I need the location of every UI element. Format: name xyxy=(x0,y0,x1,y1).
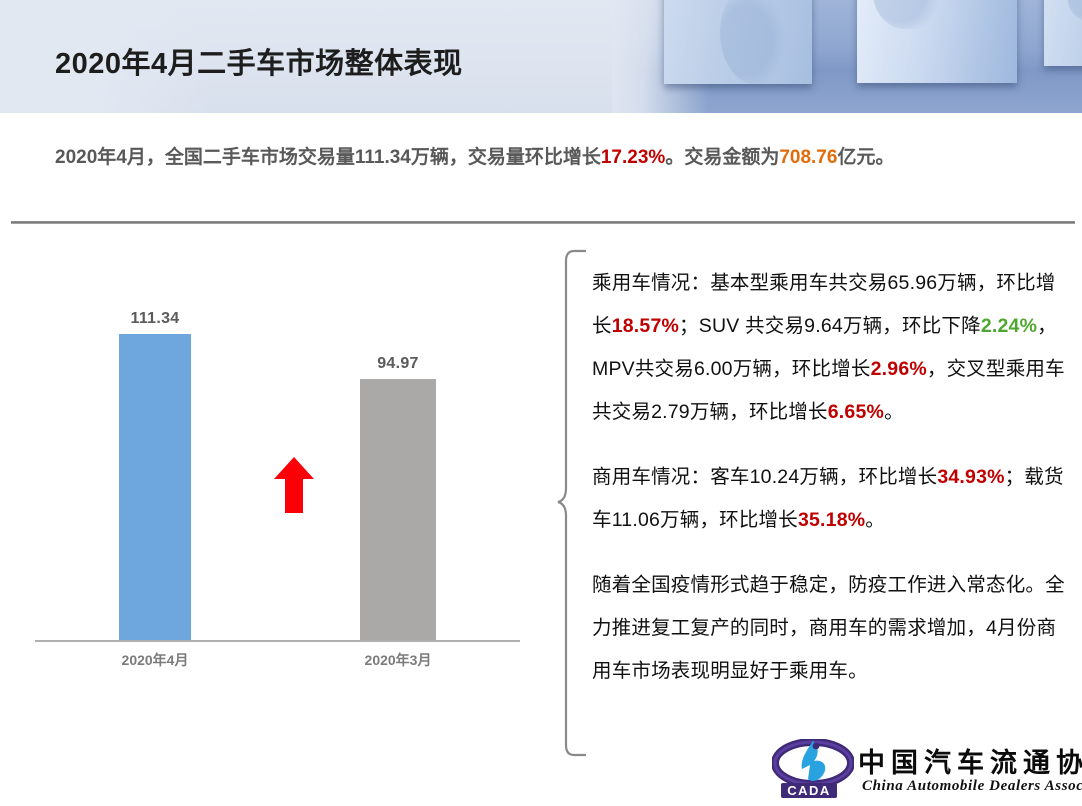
chart-axis-line xyxy=(35,640,520,642)
bar-rect xyxy=(360,379,436,640)
slide-root: 2020年4月二手车市场整体表现 2020年4月，全国二手车市场交易量111.3… xyxy=(0,0,1082,806)
highlight-red: 34.93% xyxy=(937,466,1004,488)
cada-logo-icon: CADA xyxy=(772,739,854,799)
text-run: 商用车情况：客车10.24万辆，环比增长 xyxy=(592,466,937,488)
decorative-cube-1 xyxy=(664,0,812,84)
cube-map-texture xyxy=(873,0,940,29)
highlight-red: 2.96% xyxy=(871,358,927,380)
paragraph-commercial-vehicles: 商用车情况：客车10.24万辆，环比增长34.93%；载货车11.06万辆，环比… xyxy=(592,456,1070,542)
bar-2020-03: 94.97 2020年3月 xyxy=(360,379,436,640)
bar-value-label: 111.34 xyxy=(119,310,191,328)
text-run: 。 xyxy=(865,509,885,531)
bar-category-label: 2020年4月 xyxy=(90,650,220,670)
up-arrow-icon xyxy=(274,457,314,513)
logo-chinese-name: 中国汽车流通协会 xyxy=(858,741,1082,780)
paragraph-passenger-vehicles: 乘用车情况：基本型乘用车共交易65.96万辆，环比增长18.57%；SUV 共交… xyxy=(592,262,1070,434)
header-decorative-image xyxy=(612,0,1082,113)
organization-logo: CADA 中国汽车流通协会 China Automobile Dealers A… xyxy=(772,737,1072,803)
text-run: 随着全国疫情形式趋于稳定，防疫工作进入常态化。全力推进复工复产的同时，商用车的需… xyxy=(592,574,1065,682)
curly-brace-icon xyxy=(556,248,590,758)
analysis-text-panel: 乘用车情况：基本型乘用车共交易65.96万辆，环比增长18.57%；SUV 共交… xyxy=(592,262,1070,693)
bar-2020-04: 111.34 2020年4月 xyxy=(119,334,191,640)
highlight-green: 2.24% xyxy=(981,315,1037,337)
highlight-red: 35.18% xyxy=(798,509,865,531)
paragraph-market-commentary: 随着全国疫情形式趋于稳定，防疫工作进入常态化。全力推进复工复产的同时，商用车的需… xyxy=(592,564,1070,693)
text-run: ；SUV 共交易9.64万辆，环比下降 xyxy=(679,315,981,337)
bar-category-label: 2020年3月 xyxy=(330,650,467,670)
header-band: 2020年4月二手车市场整体表现 xyxy=(0,0,1082,113)
cube-map-texture xyxy=(720,0,785,84)
horizontal-divider xyxy=(11,221,1075,224)
bar-rect xyxy=(119,334,191,640)
bar-chart: 111.34 2020年4月 94.97 2020年3月 xyxy=(0,240,545,690)
cada-badge-text: CADA xyxy=(787,783,831,798)
highlight-red: 18.57% xyxy=(612,315,679,337)
page-title: 2020年4月二手车市场整体表现 xyxy=(55,40,463,82)
text-run: 。 xyxy=(884,401,904,423)
logo-english-name: China Automobile Dealers Association xyxy=(862,778,1082,795)
cube-map-texture xyxy=(1068,0,1082,22)
decorative-cube-3 xyxy=(1044,0,1082,66)
summary-text-part3: 亿元。 xyxy=(837,147,894,168)
decorative-cube-2 xyxy=(857,0,1017,83)
growth-rate-highlight: 17.23% xyxy=(601,147,665,168)
bar-value-label: 94.97 xyxy=(360,355,436,373)
summary-text-part1: 2020年4月，全国二手车市场交易量111.34万辆，交易量环比增长 xyxy=(55,147,601,168)
summary-text-part2: 。交易金额为 xyxy=(665,147,779,168)
transaction-amount-highlight: 708.76 xyxy=(779,147,837,168)
summary-line: 2020年4月，全国二手车市场交易量111.34万辆，交易量环比增长17.23%… xyxy=(55,142,1055,169)
highlight-red: 6.65% xyxy=(828,401,884,423)
